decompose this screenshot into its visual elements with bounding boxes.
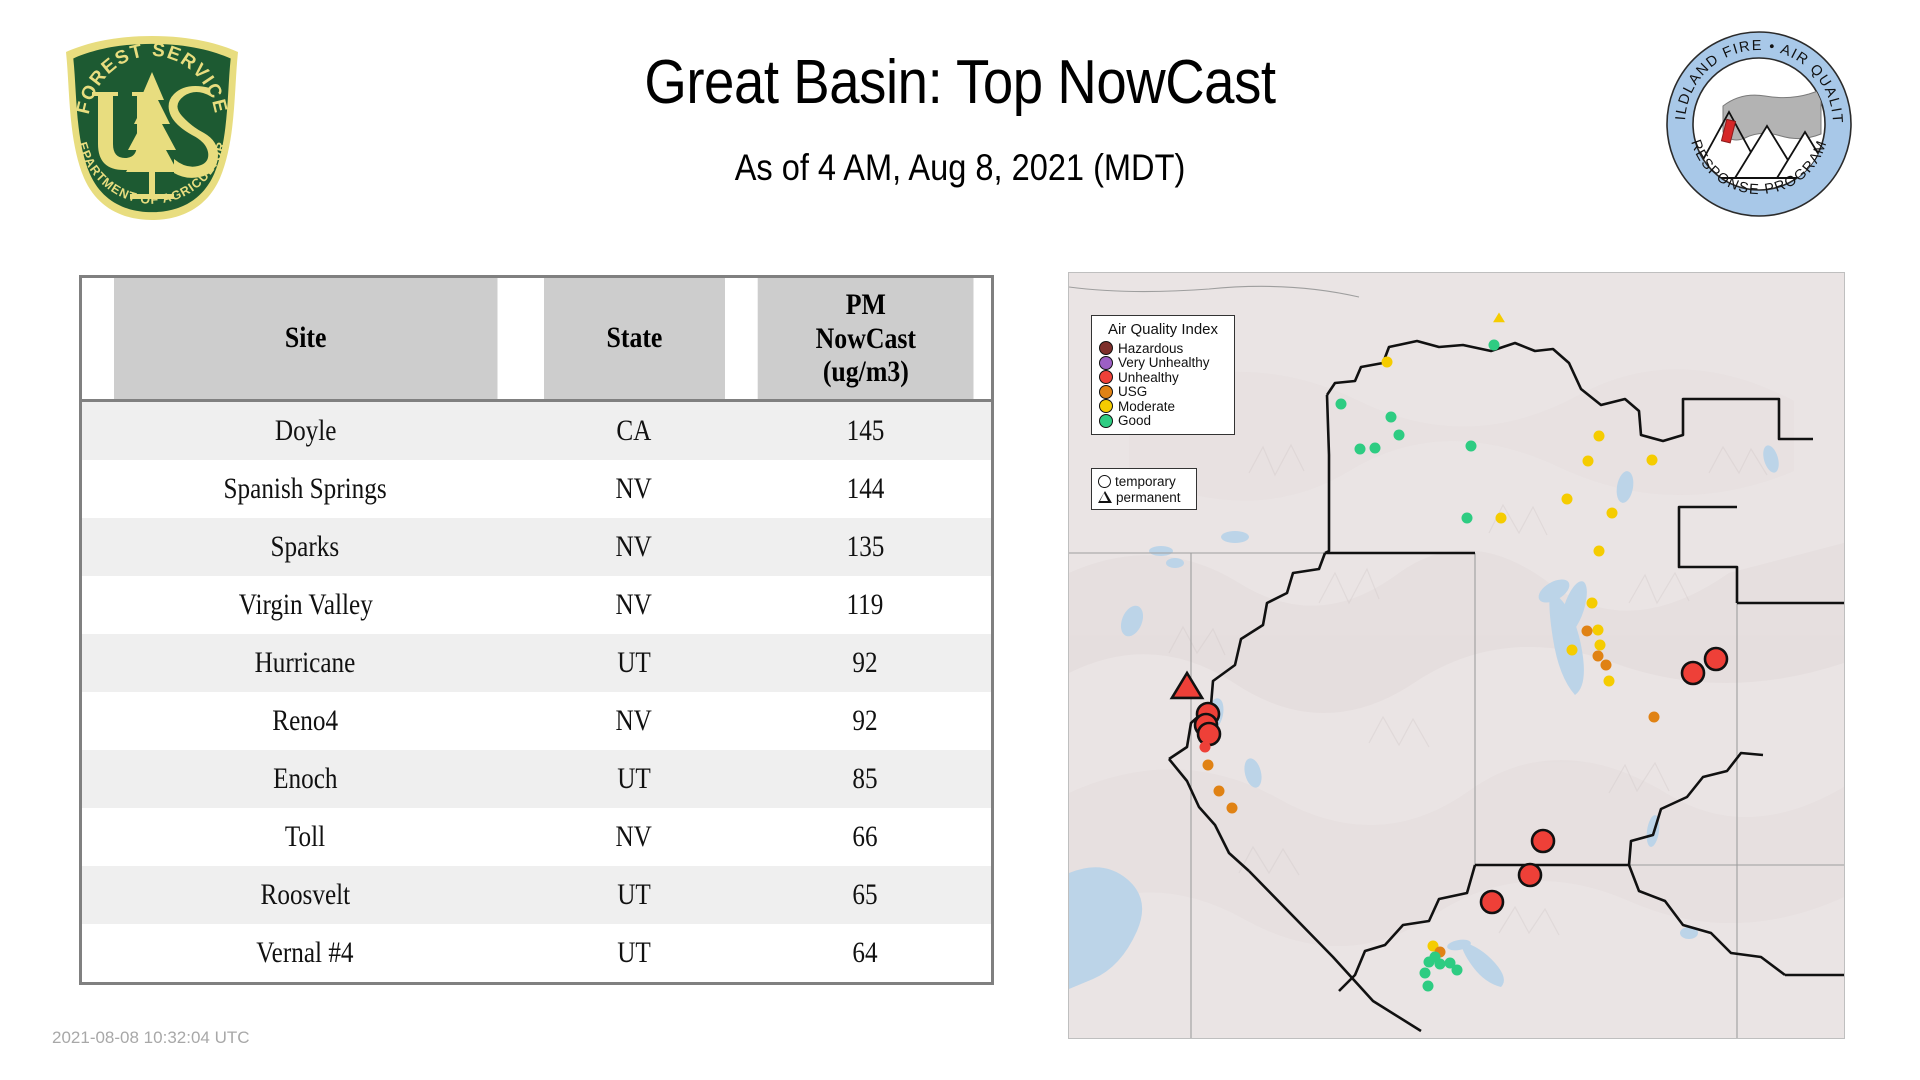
cell-state-text: NV — [616, 588, 652, 622]
cell-site-text: Sparks — [271, 530, 340, 564]
cell-site-text: Spanish Springs — [224, 472, 387, 506]
cell-pm-text: 65 — [853, 878, 878, 912]
table-row: Vernal #4UT64 — [81, 924, 993, 984]
table-header-row: Site State PM NowCast (ug/m3) — [81, 277, 993, 401]
table-row: HurricaneUT92 — [81, 634, 993, 692]
table-row: SparksNV135 — [81, 518, 993, 576]
map-marker-temporary[interactable] — [1562, 494, 1573, 505]
map-marker-temporary[interactable] — [1593, 625, 1604, 636]
cell-state: NV — [529, 808, 740, 866]
map-marker-temporary[interactable] — [1435, 959, 1446, 970]
wfaqrp-logo: WILDLAND FIRE • AIR QUALITY RESPONSE PRO… — [1663, 28, 1855, 220]
aqi-swatch-icon — [1099, 370, 1113, 384]
table-header: Site State PM NowCast (ug/m3) — [81, 277, 993, 401]
map-marker-temporary[interactable] — [1420, 968, 1431, 979]
map-marker-temporary[interactable] — [1424, 957, 1435, 968]
map-marker-temporary[interactable] — [1481, 891, 1503, 913]
table-row: RoosveltUT65 — [81, 866, 993, 924]
cell-pm: 65 — [740, 866, 993, 924]
aqi-legend-row: Moderate — [1099, 399, 1227, 414]
cell-pm: 92 — [740, 634, 993, 692]
map-marker-temporary[interactable] — [1214, 786, 1225, 797]
map-marker-temporary[interactable] — [1593, 651, 1604, 662]
generated-timestamp: 2021-08-08 10:32:04 UTC — [52, 1028, 250, 1048]
permanent-triangle-icon — [1098, 491, 1112, 503]
cell-pm-text: 135 — [846, 530, 884, 564]
map-marker-temporary[interactable] — [1647, 455, 1658, 466]
aqi-legend-label: Unhealthy — [1118, 370, 1179, 385]
cell-state-text: UT — [617, 878, 651, 912]
map-marker-temporary[interactable] — [1466, 441, 1477, 452]
legend-row-permanent: permanent — [1098, 489, 1190, 505]
cell-state-text: NV — [616, 704, 652, 738]
cell-pm-text: 92 — [853, 646, 878, 680]
aqi-swatch-icon — [1099, 356, 1113, 370]
cell-site-text: Enoch — [273, 762, 337, 796]
cell-site: Virgin Valley — [81, 576, 529, 634]
cell-state: NV — [529, 518, 740, 576]
cell-site: Hurricane — [81, 634, 529, 692]
page-subtitle: As of 4 AM, Aug 8, 2021 (MDT) — [344, 147, 1576, 189]
map-marker-temporary[interactable] — [1355, 444, 1366, 455]
cell-site-text: Vernal #4 — [257, 936, 354, 970]
map-marker-temporary[interactable] — [1496, 513, 1507, 524]
cell-state-text: CA — [617, 414, 652, 448]
column-header-state: State — [543, 277, 724, 401]
cell-pm-text: 66 — [853, 820, 878, 854]
map-marker-temporary[interactable] — [1423, 981, 1434, 992]
pm-header-line-2: NowCast — [761, 322, 970, 356]
cell-state: UT — [529, 750, 740, 808]
map-marker-temporary[interactable] — [1227, 803, 1238, 814]
aqi-legend-row: Unhealthy — [1099, 370, 1227, 385]
map-marker-temporary[interactable] — [1336, 399, 1347, 410]
legend-label-permanent: permanent — [1116, 490, 1181, 505]
map-marker-temporary[interactable] — [1649, 712, 1660, 723]
map-marker-temporary[interactable] — [1394, 430, 1405, 441]
cell-state: NV — [529, 460, 740, 518]
map-marker-temporary[interactable] — [1567, 645, 1578, 656]
cell-site: Toll — [81, 808, 529, 866]
map-marker-temporary[interactable] — [1203, 760, 1214, 771]
pm-header-line-3: (ug/m3) — [761, 355, 970, 389]
aqi-legend-title: Air Quality Index — [1099, 321, 1227, 338]
pm-header-line-1: PM — [761, 288, 970, 322]
aqi-swatch-icon — [1099, 341, 1113, 355]
map-marker-temporary[interactable] — [1489, 340, 1500, 351]
cell-site-text: Doyle — [275, 414, 337, 448]
cell-site-text: Roosvelt — [261, 878, 351, 912]
map-marker-temporary[interactable] — [1594, 431, 1605, 442]
map-marker-temporary[interactable] — [1604, 676, 1615, 687]
table-row: Spanish SpringsNV144 — [81, 460, 993, 518]
legend-row-temporary: temporary — [1098, 473, 1190, 489]
cell-pm-text: 85 — [853, 762, 878, 796]
cell-pm: 92 — [740, 692, 993, 750]
cell-site: Enoch — [81, 750, 529, 808]
map-marker-temporary[interactable] — [1705, 648, 1727, 670]
map-marker-temporary[interactable] — [1198, 723, 1220, 745]
cell-state-text: UT — [617, 646, 651, 680]
map-marker-temporary[interactable] — [1532, 830, 1554, 852]
cell-pm-text: 144 — [846, 472, 884, 506]
cell-site-text: Toll — [285, 820, 325, 854]
aqi-swatch-icon — [1099, 414, 1113, 428]
table-body: DoyleCA145Spanish SpringsNV144SparksNV13… — [81, 400, 993, 983]
table-row: TollNV66 — [81, 808, 993, 866]
site-type-legend: temporary permanent — [1091, 468, 1197, 510]
cell-state: UT — [529, 924, 740, 984]
aqi-legend-row: Hazardous — [1099, 341, 1227, 356]
cell-state: UT — [529, 866, 740, 924]
aqi-legend-label: Good — [1118, 413, 1151, 428]
map-marker-temporary[interactable] — [1682, 662, 1704, 684]
aqi-legend-row: USG — [1099, 385, 1227, 400]
nowcast-table-wrapper: Site State PM NowCast (ug/m3) DoyleCA145… — [79, 275, 994, 985]
map-marker-temporary[interactable] — [1587, 598, 1598, 609]
map-marker-temporary[interactable] — [1519, 864, 1541, 886]
cell-pm-text: 92 — [853, 704, 878, 738]
cell-state: NV — [529, 692, 740, 750]
aqi-legend-label: USG — [1118, 384, 1147, 399]
cell-state-text: NV — [616, 820, 652, 854]
aqi-legend-row: Good — [1099, 414, 1227, 429]
map-marker-temporary[interactable] — [1582, 626, 1593, 637]
cell-site: Spanish Springs — [81, 460, 529, 518]
legend-label-temporary: temporary — [1115, 474, 1176, 489]
aqi-legend-rows: HazardousVery UnhealthyUnhealthyUSGModer… — [1099, 341, 1227, 428]
map-marker-temporary[interactable] — [1382, 357, 1393, 368]
cell-pm-text: 64 — [853, 936, 878, 970]
cell-site: Doyle — [81, 400, 529, 460]
map-marker-temporary[interactable] — [1370, 443, 1381, 454]
cell-pm: 144 — [740, 460, 993, 518]
map-marker-temporary[interactable] — [1594, 546, 1605, 557]
cell-state-text: UT — [617, 762, 651, 796]
air-quality-map[interactable]: Air Quality Index HazardousVery Unhealth… — [1068, 272, 1845, 1039]
map-marker-temporary[interactable] — [1607, 508, 1618, 519]
cell-pm: 85 — [740, 750, 993, 808]
map-marker-temporary[interactable] — [1583, 456, 1594, 467]
page-header: FOREST SERVICE DEPARTMENT OF AGRICULTURE… — [0, 0, 1920, 230]
map-marker-temporary[interactable] — [1595, 640, 1606, 651]
cell-state: NV — [529, 576, 740, 634]
aqi-legend-label: Moderate — [1118, 399, 1175, 414]
cell-pm: 145 — [740, 400, 993, 460]
cell-site: Vernal #4 — [81, 924, 529, 984]
cell-state-text: NV — [616, 530, 652, 564]
column-header-site: Site — [112, 277, 497, 401]
cell-state-text: UT — [617, 936, 651, 970]
page-title: Great Basin: Top NowCast — [344, 50, 1576, 115]
aqi-legend-label: Very Unhealthy — [1118, 355, 1210, 370]
cell-state: CA — [529, 400, 740, 460]
cell-site-text: Hurricane — [255, 646, 356, 680]
aqi-swatch-icon — [1099, 385, 1113, 399]
map-marker-temporary[interactable] — [1386, 412, 1397, 423]
cell-site: Reno4 — [81, 692, 529, 750]
table-row: EnochUT85 — [81, 750, 993, 808]
cell-site-text: Virgin Valley — [238, 588, 372, 622]
aqi-legend: Air Quality Index HazardousVery Unhealth… — [1091, 315, 1235, 435]
temporary-circle-icon — [1098, 475, 1111, 488]
map-marker-temporary[interactable] — [1462, 513, 1473, 524]
map-marker-temporary[interactable] — [1452, 965, 1463, 976]
column-header-pm-nowcast: PM NowCast (ug/m3) — [757, 277, 975, 401]
cell-pm-text: 119 — [847, 588, 884, 622]
table-row: DoyleCA145 — [81, 400, 993, 460]
cell-pm: 66 — [740, 808, 993, 866]
cell-pm: 135 — [740, 518, 993, 576]
map-marker-temporary[interactable] — [1601, 660, 1612, 671]
cell-state: UT — [529, 634, 740, 692]
nowcast-table: Site State PM NowCast (ug/m3) DoyleCA145… — [79, 275, 994, 985]
aqi-legend-label: Hazardous — [1118, 341, 1183, 356]
cell-pm-text: 145 — [846, 414, 884, 448]
cell-pm: 64 — [740, 924, 993, 984]
title-block: Great Basin: Top NowCast As of 4 AM, Aug… — [260, 50, 1660, 189]
cell-site: Sparks — [81, 518, 529, 576]
cell-site: Roosvelt — [81, 866, 529, 924]
aqi-swatch-icon — [1099, 399, 1113, 413]
map-marker-temporary[interactable] — [1200, 742, 1211, 753]
cell-state-text: NV — [616, 472, 652, 506]
table-row: Virgin ValleyNV119 — [81, 576, 993, 634]
table-row: Reno4NV92 — [81, 692, 993, 750]
forest-service-logo: FOREST SERVICE DEPARTMENT OF AGRICULTURE — [52, 30, 252, 225]
cell-pm: 119 — [740, 576, 993, 634]
aqi-legend-row: Very Unhealthy — [1099, 356, 1227, 371]
cell-site-text: Reno4 — [272, 704, 338, 738]
